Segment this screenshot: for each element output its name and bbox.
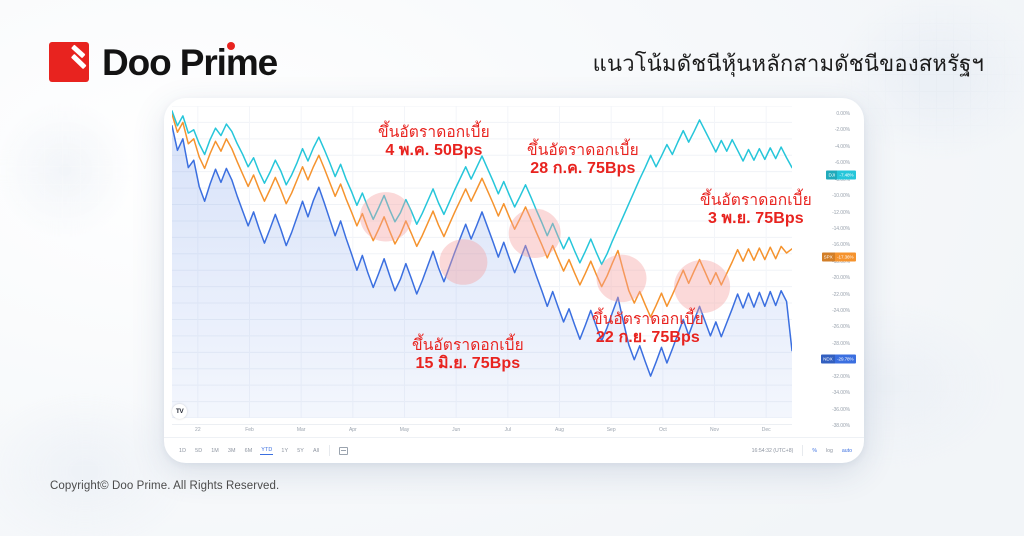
price-badge-symbol: DJI [826, 171, 837, 180]
background-pixel-grid-top-left [0, 95, 140, 245]
brand-name: Doo Prime [102, 44, 277, 81]
x-axis-tick: Oct [659, 427, 667, 433]
x-axis: 22FebMarAprMayJunJulAugSepOctNovDec [172, 424, 792, 436]
doo-prime-mark-icon [49, 42, 89, 82]
y-axis-tick: -36.00% [832, 407, 850, 413]
rate-hike-marker [597, 255, 647, 303]
x-axis-tick: Jun [452, 427, 460, 433]
price-badge-spx[interactable]: SPX-17.36% [822, 252, 856, 261]
range-button-3m[interactable]: 3M [227, 447, 237, 455]
toolbar-right-group: 16:54:32 (UTC+8) % log auto [752, 445, 852, 456]
chart-clock: 16:54:32 (UTC+8) [752, 448, 794, 454]
x-axis-tick: Apr [349, 427, 357, 433]
price-badge-symbol: SPX [822, 252, 835, 261]
y-axis-tick: -20.00% [832, 275, 850, 281]
y-axis-tick: -2.00% [835, 127, 850, 133]
y-axis-tick: -16.00% [832, 242, 850, 248]
index-comparison-chart [172, 106, 792, 418]
x-axis-tick: Jul [505, 427, 511, 433]
rate-hike-marker [439, 239, 487, 285]
y-axis-tick: -10.00% [832, 193, 850, 199]
chart-card: 0.00%-2.00%-4.00%-6.00%-8.00%-10.00%-12.… [164, 98, 864, 463]
x-axis-tick: Feb [245, 427, 254, 433]
log-scale-button[interactable]: log [826, 448, 833, 454]
calendar-icon[interactable] [339, 447, 348, 455]
range-button-ytd[interactable]: YTD [260, 446, 273, 455]
auto-scale-button[interactable]: auto [842, 448, 852, 454]
range-button-6m[interactable]: 6M [244, 447, 254, 455]
price-badge-value: -29.78% [835, 354, 856, 363]
range-button-1d[interactable]: 1D [178, 447, 187, 455]
page-title: แนวโน้มดัชนีหุ้นหลักสามดัชนีของสหรัฐฯ [593, 46, 984, 81]
copyright-text: Copyright© Doo Prime. All Rights Reserve… [50, 480, 279, 492]
y-axis: 0.00%-2.00%-4.00%-6.00%-8.00%-10.00%-12.… [792, 106, 858, 418]
x-axis-tick: Sep [607, 427, 616, 433]
y-axis-tick: -22.00% [832, 292, 850, 298]
toolbar-divider-2 [802, 445, 803, 456]
y-axis-tick: -28.00% [832, 341, 850, 347]
range-button-1m[interactable]: 1M [210, 447, 220, 455]
range-button-5y[interactable]: 5Y [296, 447, 305, 455]
y-axis-tick: -26.00% [832, 324, 850, 330]
x-axis-tick: 22 [195, 427, 201, 433]
x-axis-tick: Mar [297, 427, 306, 433]
y-axis-tick: -4.00% [835, 144, 850, 150]
x-axis-tick: Dec [762, 427, 771, 433]
price-badge-value: -17.36% [835, 252, 856, 261]
price-badge-ndx[interactable]: NDX-29.78% [821, 354, 856, 363]
y-axis-tick: 0.00% [836, 111, 850, 117]
brand-name-text: Doo Prime [102, 42, 277, 83]
range-button-1y[interactable]: 1Y [280, 447, 289, 455]
y-axis-tick: -34.00% [832, 390, 850, 396]
y-axis-tick: -38.00% [832, 423, 850, 429]
price-badge-dji[interactable]: DJI-7.48% [826, 171, 856, 180]
x-axis-tick: Nov [710, 427, 719, 433]
brand-dot-icon [227, 42, 235, 50]
y-axis-tick: -6.00% [835, 160, 850, 166]
y-axis-tick: -32.00% [832, 374, 850, 380]
rate-hike-marker [509, 209, 561, 258]
x-axis-tick: May [400, 427, 409, 433]
time-range-group: 1D5D1M3M6MYTD1Y5YAll [178, 446, 320, 455]
tradingview-logo-icon: TV [172, 404, 187, 419]
toolbar-divider [329, 445, 330, 456]
rate-hike-marker [360, 192, 412, 241]
y-axis-tick: -24.00% [832, 308, 850, 314]
range-button-5d[interactable]: 5D [194, 447, 203, 455]
price-badge-symbol: NDX [821, 354, 834, 363]
brand-logo: Doo Prime [49, 42, 277, 82]
y-axis-tick: -14.00% [832, 226, 850, 232]
price-badge-value: -7.48% [837, 171, 856, 180]
y-axis-tick: -12.00% [832, 210, 850, 216]
x-axis-tick: Aug [555, 427, 564, 433]
chart-toolbar: 1D5D1M3M6MYTD1Y5YAll 16:54:32 (UTC+8) % … [164, 437, 864, 463]
chart-plot-area [172, 106, 792, 418]
percent-scale-icon[interactable]: % [812, 448, 817, 454]
range-button-all[interactable]: All [312, 447, 320, 455]
rate-hike-marker [674, 260, 730, 313]
